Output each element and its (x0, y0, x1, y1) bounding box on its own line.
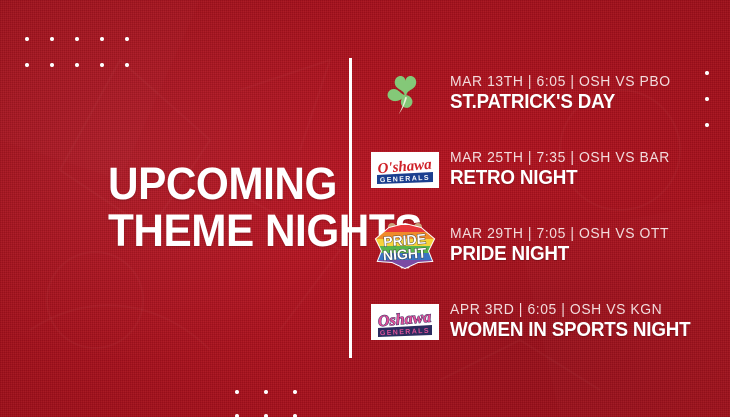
list-item[interactable]: Oshawa GENERALS APR 3RD | 6:05 | OSH VS … (370, 286, 730, 358)
oshawa-generals-pink-logo: Oshawa GENERALS (370, 296, 440, 348)
event-meta: MAR 13TH | 6:05 | OSH VS PBO (450, 74, 671, 90)
promo-graphic: UPCOMING THEME NIGHTS MAR 13TH | 6:05 | … (0, 0, 730, 417)
event-text: MAR 25TH | 7:35 | OSH VS BAR RETRO NIGHT (450, 150, 679, 190)
oshawa-generals-retro-logo: O'shawa GENERALS (370, 144, 440, 196)
event-meta: APR 3RD | 6:05 | OSH VS KGN (450, 302, 696, 318)
page-title-line-1: UPCOMING (108, 160, 343, 207)
theme-nights-list: MAR 13TH | 6:05 | OSH VS PBO ST.PATRICK'… (370, 58, 730, 358)
shamrock-icon (370, 68, 440, 120)
event-title: WOMEN IN SPORTS NIGHT (450, 319, 690, 342)
vertical-divider (349, 58, 352, 358)
list-item[interactable]: O'shawa GENERALS MAR 25TH | 7:35 | OSH V… (370, 134, 730, 206)
event-text: MAR 13TH | 6:05 | OSH VS PBO ST.PATRICK'… (450, 74, 680, 114)
page-title: UPCOMING THEME NIGHTS (108, 160, 358, 254)
dot-grid-bottom (222, 380, 309, 417)
dot-grid-top-left (14, 26, 139, 78)
event-meta: MAR 29TH | 7:05 | OSH VS OTT (450, 226, 669, 242)
event-text: MAR 29TH | 7:05 | OSH VS OTT PRIDE NIGHT (450, 226, 678, 266)
event-meta: MAR 25TH | 7:35 | OSH VS BAR (450, 150, 670, 166)
list-item[interactable]: MAR 13TH | 6:05 | OSH VS PBO ST.PATRICK'… (370, 58, 730, 130)
page-title-line-2: THEME NIGHTS (108, 207, 343, 254)
event-title: PRIDE NIGHT (450, 243, 665, 266)
svg-text:NIGHT: NIGHT (382, 244, 427, 263)
event-title: RETRO NIGHT (450, 167, 665, 190)
list-item[interactable]: PRIDE NIGHT MAR 29TH | 7:05 | OSH VS OTT… (370, 210, 730, 282)
pride-night-crest-logo: PRIDE NIGHT (370, 220, 440, 272)
event-text: APR 3RD | 6:05 | OSH VS KGN WOMEN IN SPO… (450, 302, 706, 342)
event-title: ST.PATRICK'S DAY (450, 91, 666, 114)
